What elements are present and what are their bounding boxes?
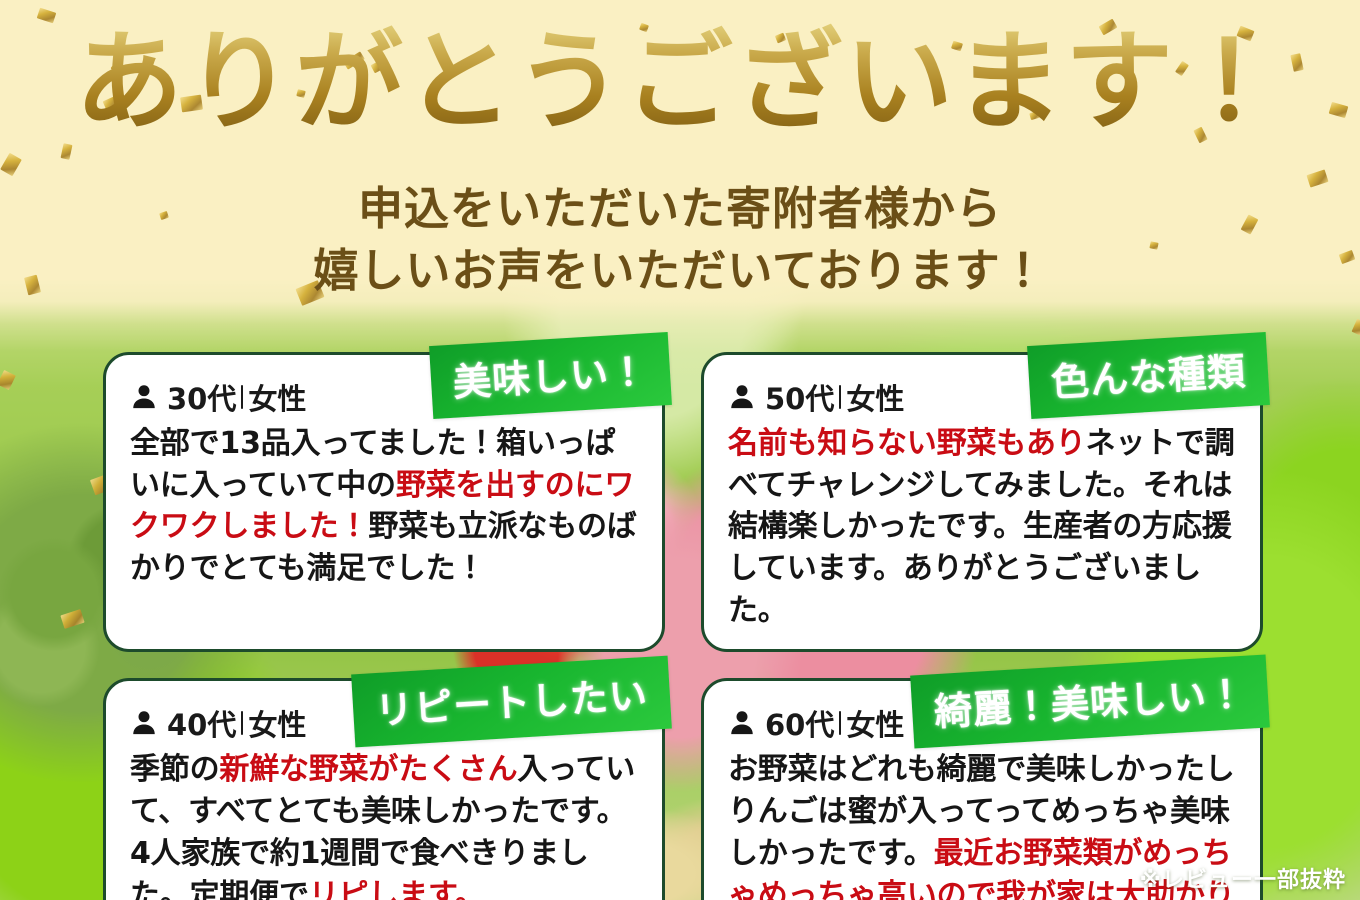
footnote-disclaimer: ※レビュー一部抜粋 (1140, 862, 1346, 894)
review-text-plain: 季節の (130, 752, 219, 787)
reviewer-demographics: 40代女性 (167, 702, 306, 744)
reviewer-age: 60代 (765, 702, 834, 744)
review-text-highlight: 名前も知らない野菜もあり (728, 426, 1086, 461)
reviewer-age: 40代 (167, 702, 236, 744)
subtitle-line-1: 申込をいただいた寄附者様から (0, 178, 1360, 240)
reviewer-age: 50代 (765, 376, 834, 418)
demographic-divider (839, 385, 841, 409)
review-text-highlight: 新鮮な野菜がたくさん (219, 752, 517, 787)
review-card-grid: 美味しい！30代女性全部で13品入ってました！箱いっぱいに入っていて中の野菜を出… (103, 352, 1263, 900)
review-text-highlight: リピします。 (309, 878, 485, 900)
review-card: 美味しい！30代女性全部で13品入ってました！箱いっぱいに入っていて中の野菜を出… (103, 352, 665, 652)
subtitle-line-2: 嬉しいお声をいただいております！ (0, 240, 1360, 302)
page-title: ありがとうございます！ (0, 22, 1360, 143)
demographic-divider (839, 711, 841, 735)
person-icon (728, 383, 756, 411)
person-icon (130, 709, 158, 737)
reviewer-gender: 女性 (846, 702, 904, 744)
review-card: 色んな種類50代女性名前も知らない野菜もありネットで調べてチャレンジしてみました… (701, 352, 1263, 652)
review-badge: 美味しい！ (429, 332, 672, 419)
page-subtitle: 申込をいただいた寄附者様から 嬉しいお声をいただいております！ (0, 178, 1360, 302)
review-text: 名前も知らない野菜もありネットで調べてチャレンジしてみました。それは結構楽しかっ… (728, 423, 1236, 631)
reviewer-gender: 女性 (248, 702, 306, 744)
reviewer-demographics: 30代女性 (167, 376, 306, 418)
reviewer-demographics: 60代女性 (765, 702, 904, 744)
reviewer-gender: 女性 (248, 376, 306, 418)
demographic-divider (241, 711, 243, 735)
reviewer-demographics: 50代女性 (765, 376, 904, 418)
review-text: 全部で13品入ってました！箱いっぱいに入っていて中の野菜を出すのにワクワクしまし… (130, 423, 638, 590)
person-icon (728, 709, 756, 737)
promo-banner: ありがとうございます！ 申込をいただいた寄附者様から 嬉しいお声をいただいており… (0, 0, 1360, 900)
reviewer-gender: 女性 (846, 376, 904, 418)
person-icon (130, 383, 158, 411)
review-badge: 色んな種類 (1027, 332, 1270, 419)
demographic-divider (241, 385, 243, 409)
review-text: 季節の新鮮な野菜がたくさん入っていて、すべてとても美味しかったです。4人家族で約… (130, 749, 638, 900)
reviewer-age: 30代 (167, 376, 236, 418)
review-card: リピートしたい40代女性季節の新鮮な野菜がたくさん入っていて、すべてとても美味し… (103, 678, 665, 900)
